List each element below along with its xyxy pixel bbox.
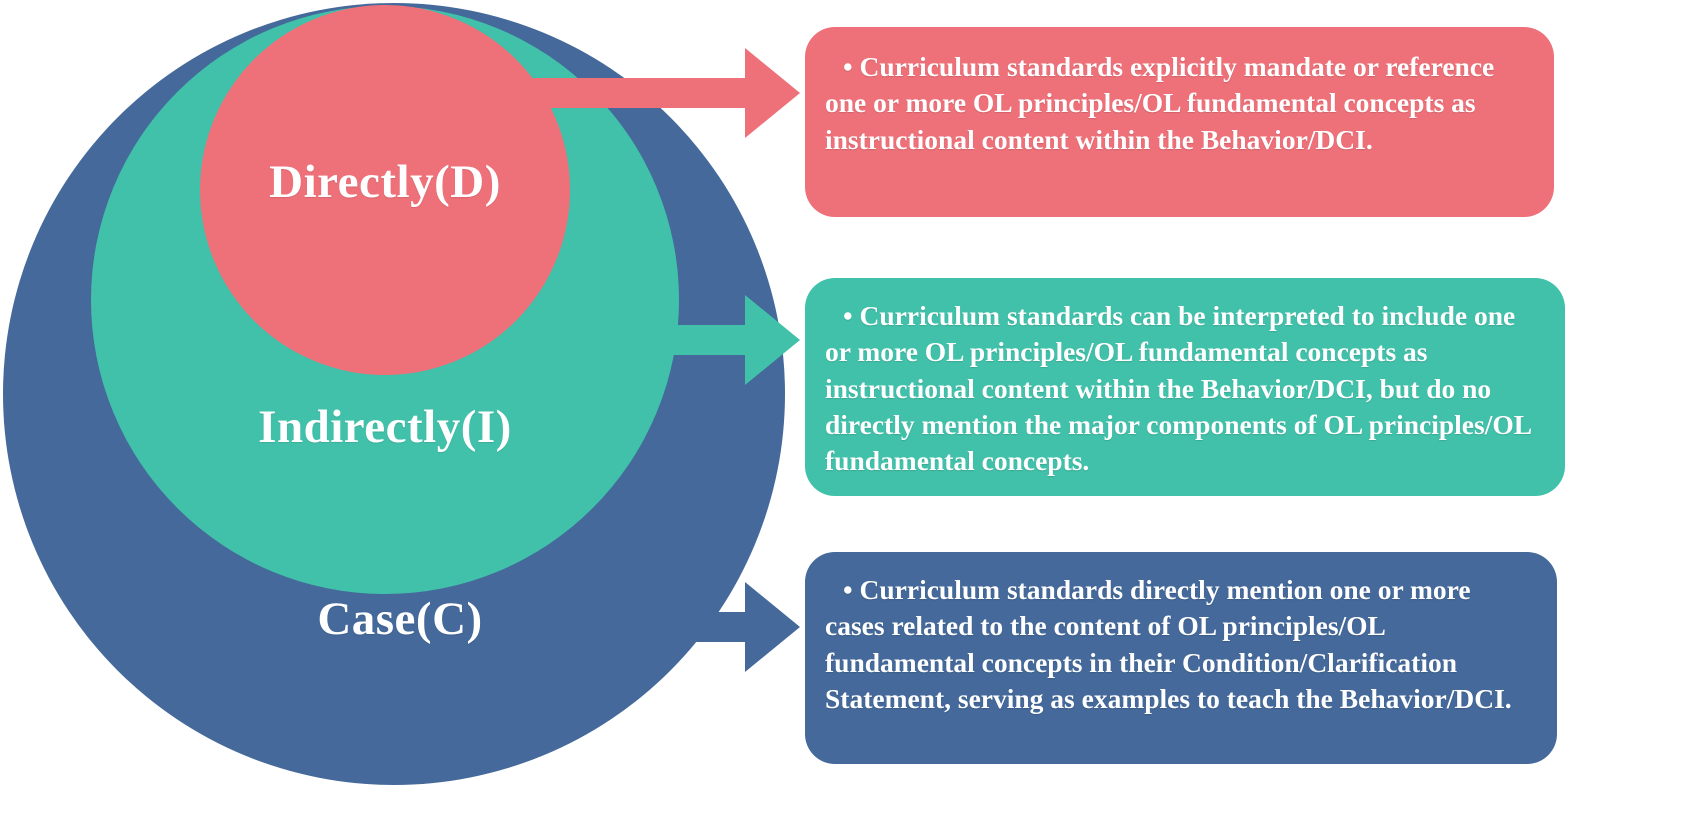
callout-directly-body: Curriculum standards explicitly mandate …	[825, 51, 1494, 155]
callout-box-indirectly: • Curriculum standards can be interprete…	[805, 278, 1565, 496]
bullet-icon: •	[843, 574, 853, 605]
callout-box-directly: • Curriculum standards explicitly mandat…	[805, 27, 1554, 217]
callout-indirectly-body: Curriculum standards can be interpreted …	[825, 300, 1531, 476]
bullet-icon: •	[843, 51, 853, 82]
callout-indirectly-text: • Curriculum standards can be interprete…	[825, 298, 1539, 479]
callout-box-case: • Curriculum standards directly mention …	[805, 552, 1557, 764]
directly-circle	[200, 5, 570, 375]
diagram-canvas: Directly(D) Indirectly(I) Case(C) • Curr…	[0, 0, 1690, 824]
bullet-icon: •	[843, 300, 853, 331]
callout-directly-text: • Curriculum standards explicitly mandat…	[825, 49, 1528, 158]
callout-case-text: • Curriculum standards directly mention …	[825, 572, 1531, 717]
callout-case-body: Curriculum standards directly mention on…	[825, 574, 1512, 714]
